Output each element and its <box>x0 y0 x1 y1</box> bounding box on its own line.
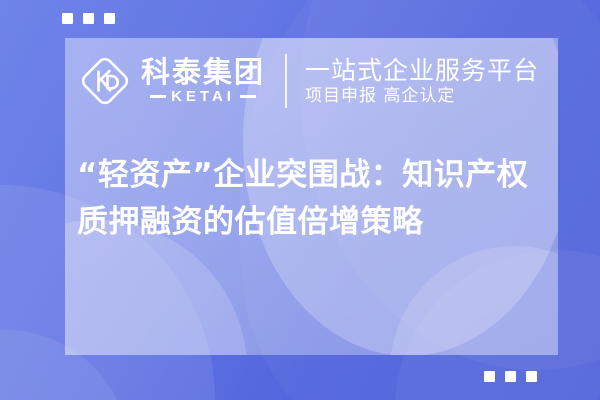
brand-name-en: KETAI <box>171 89 235 104</box>
slogan-sub-text: 项目申报 高企认定 <box>305 88 539 105</box>
rule-right-icon <box>240 95 256 98</box>
decor-dots-top-left <box>62 13 115 24</box>
ketai-diamond-kd-logo-icon <box>78 54 132 108</box>
square-dot-icon <box>62 13 73 24</box>
square-dot-icon <box>505 371 516 382</box>
square-dot-icon <box>83 13 94 24</box>
headline-line-1: “轻资产”企业突围战：知识产权 <box>77 152 597 199</box>
headline: “轻资产”企业突围战：知识产权 质押融资的估值倍增策略 <box>77 152 597 246</box>
brand-name-cn: 科泰集团 <box>141 58 265 87</box>
square-dot-icon <box>484 371 495 382</box>
headline-line-2: 质押融资的估值倍增策略 <box>77 199 597 246</box>
rule-left-icon <box>150 95 166 98</box>
slogan-block: 一站式企业服务平台 项目申报 高企认定 <box>305 58 539 105</box>
brand-name-en-row: KETAI <box>150 89 256 104</box>
banner-header: 科泰集团 KETAI 一站式企业服务平台 项目申报 高企认定 <box>78 46 539 116</box>
card-arc-bottom-right <box>390 246 558 355</box>
header-divider <box>285 54 287 108</box>
square-dot-icon <box>526 371 537 382</box>
promo-banner: 科泰集团 KETAI 一站式企业服务平台 项目申报 高企认定 “轻资产”企业突围… <box>0 0 600 400</box>
slogan-main-text: 一站式企业服务平台 <box>305 58 539 83</box>
square-dot-icon <box>104 13 115 24</box>
brand-logo[interactable]: 科泰集团 KETAI <box>78 54 265 108</box>
brand-wordmark: 科泰集团 KETAI <box>141 58 265 104</box>
decor-dots-bottom-right <box>484 371 537 382</box>
